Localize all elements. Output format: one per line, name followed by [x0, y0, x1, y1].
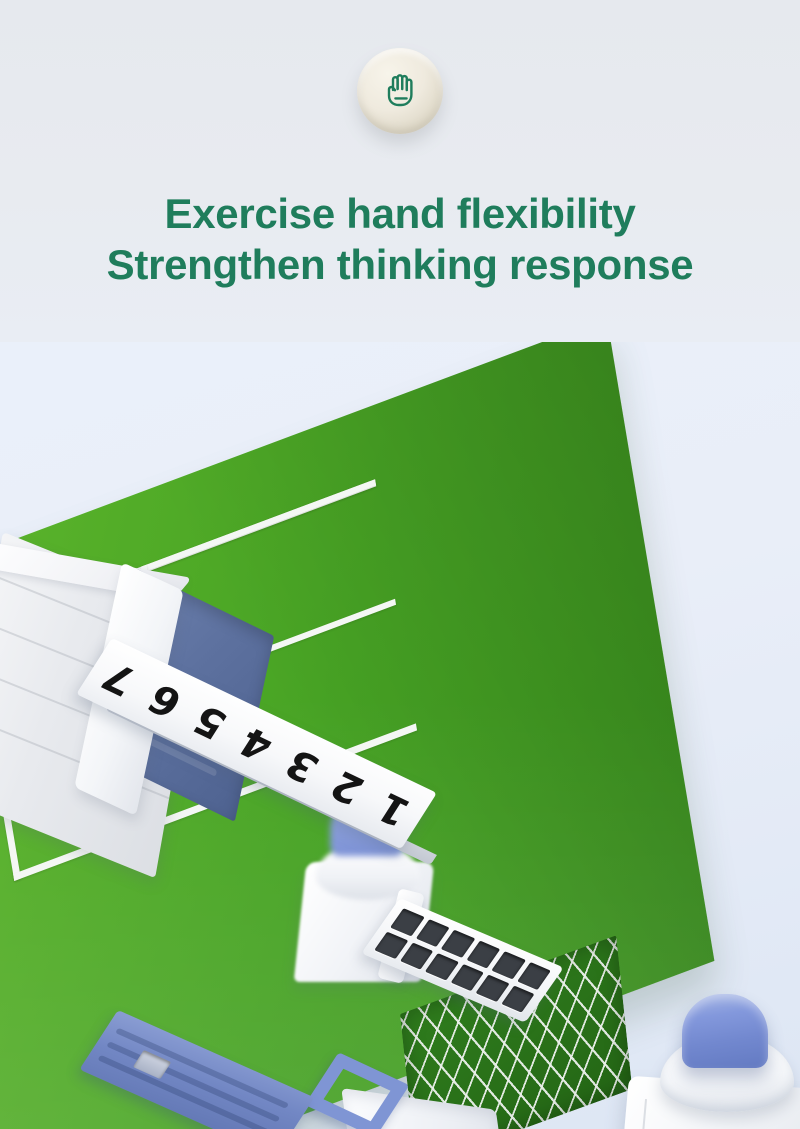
score-digit: 3 [279, 742, 326, 788]
hand-icon [381, 71, 419, 111]
product-stage: 7 6 5 4 3 2 1 [0, 342, 800, 1129]
headline-line-2: Strengthen thinking response [0, 239, 800, 290]
product-feature-banner: Exercise hand flexibility Strengthen thi… [0, 0, 800, 1129]
score-digit: 5 [187, 699, 234, 745]
score-digit: 4 [233, 721, 280, 767]
grille-hole [517, 962, 551, 990]
headline-line-1: Exercise hand flexibility [164, 190, 635, 237]
hand-badge [357, 48, 443, 134]
score-digit: 6 [142, 677, 189, 723]
housing-bevel [632, 1099, 647, 1129]
headline-banner: Exercise hand flexibility Strengthen thi… [0, 0, 800, 342]
page-title: Exercise hand flexibility Strengthen thi… [0, 188, 800, 290]
score-digit: 7 [96, 655, 143, 701]
product-photo: 7 6 5 4 3 2 1 [0, 342, 800, 1129]
shooter-button[interactable] [682, 994, 768, 1068]
grille-hole [501, 985, 535, 1013]
score-digit: 1 [370, 786, 417, 832]
score-digit: 2 [325, 764, 372, 810]
